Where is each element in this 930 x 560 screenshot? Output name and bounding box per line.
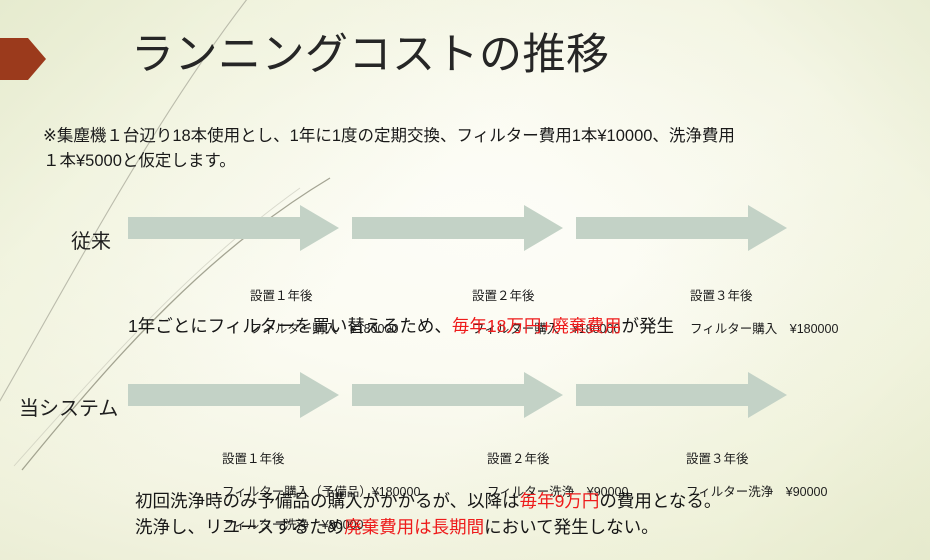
timeline-arrow [128, 205, 339, 251]
step-caption-line1: 設置２年後 [487, 452, 550, 466]
summary-text-plain: 1年ごとにフィルターを買い替えるため、 [128, 316, 452, 336]
timeline-arrow [128, 372, 339, 418]
step-caption: 設置３年後 フィルター購入 ¥180000 [690, 271, 838, 337]
step-caption-line1: 設置３年後 [690, 289, 753, 303]
summary-system: 初回洗浄時のみ予備品の購入がかかるが、以降は毎年9万円の費用となる。 洗浄し、リ… [135, 488, 721, 540]
timeline-arrow [352, 205, 563, 251]
timeline-arrows-conventional [0, 203, 930, 265]
summary-text-highlight: 毎年18万円+廃棄費用 [452, 316, 622, 336]
timeline-arrows-system [0, 370, 930, 432]
timeline-arrow [576, 372, 787, 418]
step-caption-line1: 設置１年後 [222, 452, 285, 466]
slide-canvas: ランニングコストの推移 ※集塵機１台辺り18本使用とし、1年に1度の定期交換、フ… [0, 0, 930, 560]
step-caption-line1: 設置１年後 [250, 289, 313, 303]
summary-text-plain-tail: が発生 [622, 316, 675, 336]
step-caption-line1: 設置３年後 [686, 452, 749, 466]
summary-text-plain: 初回洗浄時のみ予備品の購入がかかるが、以降は [135, 491, 520, 511]
step-caption-line2: フィルター購入 ¥180000 [690, 322, 838, 336]
summary-text-highlight-2: 廃棄費用は長期間 [344, 517, 484, 537]
summary-conventional: 1年ごとにフィルターを買い替えるため、毎年18万円+廃棄費用が発生 [128, 313, 674, 339]
summary-text-plain-tail: の費用となる。 [599, 491, 721, 511]
page-title: ランニングコストの推移 [131, 18, 610, 92]
timeline-arrow [352, 372, 563, 418]
assumption-note: ※集塵機１台辺り18本使用とし、1年に1度の定期交換、フィルター費用1本¥100… [43, 124, 915, 174]
summary-text-plain-2: 洗浄し、リユースするため [135, 517, 344, 537]
step-caption-line1: 設置２年後 [472, 289, 535, 303]
summary-text-highlight: 毎年9万円 [520, 491, 600, 511]
right-arrow-pentagon-icon [0, 34, 48, 84]
title-bar: ランニングコストの推移 [0, 18, 930, 96]
timeline-arrow [576, 205, 787, 251]
summary-text-plain-tail-2: において発生しない。 [484, 517, 658, 537]
